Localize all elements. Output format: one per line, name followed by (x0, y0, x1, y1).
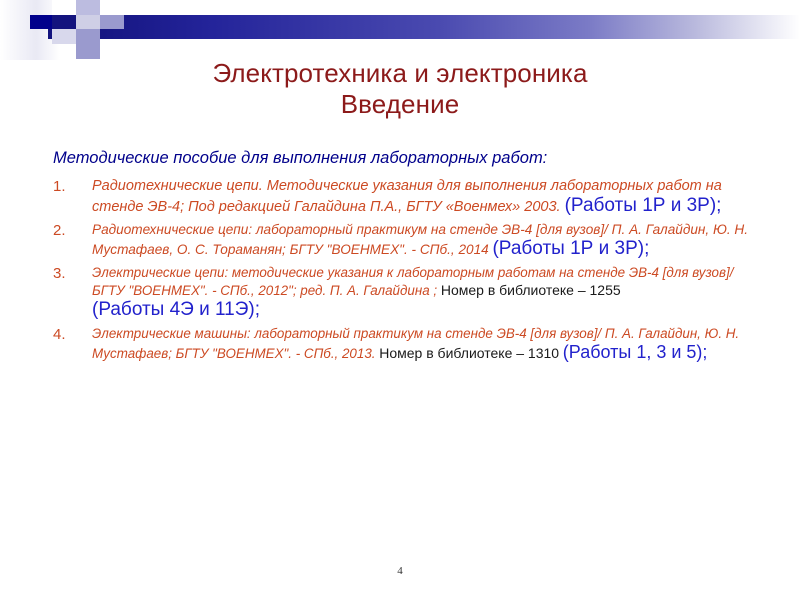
list-item-note: Номер в библиотеке – 1310 (379, 345, 559, 361)
list-item-number: 4. (53, 325, 79, 344)
banner-square-4 (76, 0, 100, 15)
banner-square-7 (76, 44, 100, 59)
list-item: 2. Радиотехнические цепи: лабораторный п… (53, 221, 759, 259)
banner-square-6 (76, 29, 100, 44)
list-item-body: Радиотехнические цепи: лабораторный прак… (92, 222, 748, 257)
banner-square-2 (52, 0, 76, 15)
banner-gradient-bar (48, 15, 800, 39)
page-number: 4 (0, 565, 800, 577)
list-item-number: 2. (53, 221, 79, 240)
list-item-highlight: (Работы 1Р и 3Р); (492, 238, 649, 259)
list-item-text: Электрические машины: лабораторный практ… (92, 326, 739, 361)
list-item-text: Радиотехнические цепи: лабораторный прак… (92, 222, 748, 257)
banner-square-8 (100, 15, 124, 29)
header-banner (0, 0, 800, 60)
list-item-text: Радиотехнические цепи. Методические указ… (92, 178, 722, 215)
list-item-highlight: (Работы 1, 3 и 5); (563, 342, 708, 362)
list-item: 3. Электрические цепи: методические указ… (53, 264, 759, 320)
banner-square-3 (52, 29, 76, 44)
slide-title: Электротехника и электроника Введение (0, 58, 800, 120)
list-item: 4. Электрические машины: лабораторный пр… (53, 325, 759, 363)
title-line-1: Электротехника и электроника (0, 58, 800, 89)
list-item-highlight: (Работы 1Р и 3Р); (565, 195, 722, 216)
title-line-2: Введение (0, 89, 800, 120)
list-item-highlight: (Работы 4Э и 11Э); (92, 299, 260, 320)
slide-body: Методические пособие для выполнения лабо… (53, 148, 759, 368)
banner-square-5 (76, 15, 100, 29)
list-item-number: 3. (53, 264, 79, 283)
lead-paragraph: Методические пособие для выполнения лабо… (53, 148, 759, 169)
list-item-body: Электрические цепи: методические указани… (92, 265, 733, 298)
banner-square-9 (100, 0, 124, 15)
list-item: 1. Радиотехнические цепи. Методические у… (53, 177, 759, 216)
list-item-number: 1. (53, 177, 79, 196)
banner-square-1 (30, 15, 52, 29)
slide-canvas: Электротехника и электроника Введение Ме… (0, 0, 800, 600)
list-item-note: Номер в библиотеке – 1255 (441, 282, 621, 298)
list-item-text: Электрические цепи: методические указани… (92, 265, 733, 318)
